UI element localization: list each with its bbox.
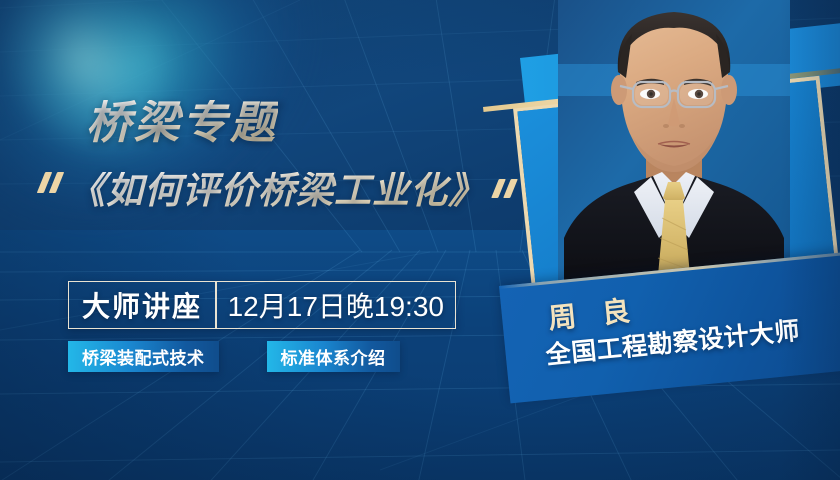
page-title: 桥梁专题: [86, 100, 278, 145]
subtitle-row: 《如何评价桥梁工业化》: [36, 172, 520, 209]
lecture-type-label: 大师讲座: [69, 282, 215, 328]
lecture-info-box: 大师讲座 12月17日晚19:30: [68, 281, 456, 329]
open-quote-icon: [36, 172, 66, 206]
topic-tag[interactable]: 标准体系介绍: [267, 341, 400, 372]
topic-tag-list: 桥梁装配式技术 标准体系介绍: [68, 341, 400, 372]
page-subtitle: 《如何评价桥梁工业化》: [68, 172, 486, 209]
poster-canvas: 桥梁专题 《如何评价桥梁工业化》 大师讲座 12月17日晚19:30 桥梁装配式…: [0, 0, 840, 480]
speaker-portrait: [558, 0, 790, 286]
speaker-section: 周 良 全国工程勘察设计大师: [495, 0, 840, 480]
topic-tag[interactable]: 桥梁装配式技术: [68, 341, 219, 372]
lecture-datetime: 12月17日晚19:30: [217, 282, 455, 328]
